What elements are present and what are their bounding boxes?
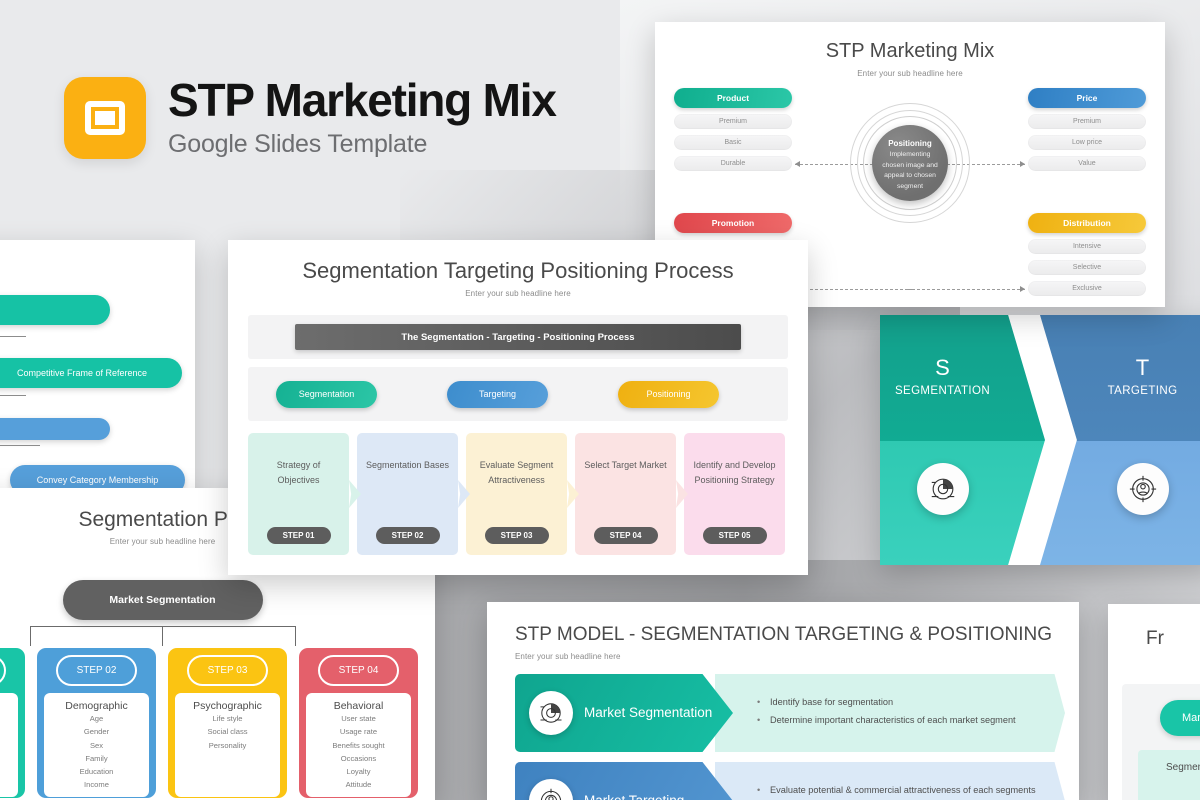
mix-core-text: Implementing chosen image and appeal to …	[880, 150, 940, 192]
model-row[interactable]: Identify base for segmentation Determine…	[515, 674, 1065, 752]
mix-quadrant-item: Premium	[674, 114, 792, 129]
process-step-text: Evaluate Segment Attractiveness	[475, 458, 559, 487]
segmentation-target-icon	[917, 463, 969, 515]
model-title: STP MODEL - SEGMENTATION TARGETING & POS…	[515, 624, 1079, 646]
segmentation-card-item: Family	[48, 753, 145, 765]
segmentation-card-item: Gender	[48, 726, 145, 738]
slide-stp-process[interactable]: Segmentation Targeting Positioning Proce…	[228, 240, 808, 575]
segmentation-card-item: Age	[48, 713, 145, 725]
segmentation-card-badge: STEP 04	[318, 655, 399, 686]
chevron-label: TARGETING	[1040, 385, 1200, 397]
mix-quadrant-label: Price	[1028, 88, 1146, 108]
segmentation-card-item: User state	[310, 713, 407, 725]
page-title: STP Marketing Mix	[168, 76, 556, 124]
mix-quadrant-item: Exclusive	[1028, 281, 1146, 296]
process-steps: Strategy of Objectives STEP 01 Segmentat…	[248, 433, 785, 555]
mix-subtitle: Enter your sub headline here	[655, 69, 1165, 78]
model-rows: Identify base for segmentation Determine…	[515, 674, 1065, 800]
mix-quadrant-item: Premium	[1028, 114, 1146, 129]
segmentation-card[interactable]: STEP 02 Demographic Age Gender Sex Famil…	[37, 648, 156, 798]
slide-framework-partial[interactable]: Fr Market Segmen	[1108, 604, 1200, 800]
process-pill-positioning[interactable]: Positioning	[618, 381, 719, 408]
screenshot-stage: Competitive Frame of Reference Convey Ca…	[0, 0, 1200, 800]
process-step-badge: STEP 05	[703, 527, 767, 544]
segmentation-card-heading: Demographic	[48, 700, 145, 712]
segmentation-card[interactable]: STEP 01 Geographic Region City size Dens…	[0, 648, 25, 798]
model-bullet-list: Identify base for segmentation Determine…	[757, 694, 1065, 730]
mix-connector-right-bottom	[907, 289, 1025, 290]
process-step-chevron	[458, 480, 470, 508]
mix-quadrant-promotion[interactable]: Promotion	[674, 213, 792, 233]
process-step-badge: STEP 04	[594, 527, 658, 544]
segmentation-card-badge: STEP 03	[187, 655, 268, 686]
far-pill-market: Market	[1160, 700, 1200, 736]
segmentation-card-item: Climate	[0, 753, 14, 765]
process-step-badge: STEP 02	[376, 527, 440, 544]
process-subtitle: Enter your sub headline here	[228, 289, 808, 298]
segmentation-card-badge: STEP 02	[56, 655, 137, 686]
process-step-text: Select Target Market	[584, 458, 668, 473]
chevron-letter: T	[1040, 355, 1200, 381]
mix-title: STP Marketing Mix	[655, 40, 1165, 63]
brand-header: STP Marketing Mix Google Slides Template	[64, 76, 556, 159]
segmentation-card-item: Usage rate	[310, 726, 407, 738]
process-step-card[interactable]: Identify and Develop Positioning Strateg…	[684, 433, 785, 555]
mix-connector-left-bottom	[795, 289, 913, 290]
mix-arrow-left-top	[795, 161, 800, 167]
slide-stp-chevrons[interactable]: T TARGETING S SEGMENTATION	[880, 315, 1200, 565]
process-step-badge: STEP 03	[485, 527, 549, 544]
process-step-badge: STEP 01	[267, 527, 331, 544]
process-banner: The Segmentation - Targeting - Positioni…	[295, 324, 741, 350]
process-pill-band: Segmentation Targeting Positioning	[248, 367, 788, 421]
segmentation-card-item: Region	[0, 713, 14, 725]
process-step-chevron	[567, 480, 579, 508]
segmentation-card[interactable]: STEP 03 Psychographic Life style Social …	[168, 648, 287, 798]
mix-center-positioning[interactable]: Positioning Implementing chosen image an…	[850, 103, 970, 223]
process-step-text: Segmentation Bases	[366, 458, 450, 473]
segmentation-card-item: Density	[0, 740, 14, 752]
segmentation-card-item: Loyalty	[310, 766, 407, 778]
mix-quadrant-item: Low price	[1028, 135, 1146, 150]
mix-quadrant-item: Value	[1028, 156, 1146, 171]
mix-quadrant-item: Intensive	[1028, 239, 1146, 254]
mix-quadrant-label: Distribution	[1028, 213, 1146, 233]
process-pill-segmentation[interactable]: Segmentation	[276, 381, 377, 408]
ref-pill-competitive-frame: Competitive Frame of Reference	[0, 358, 182, 388]
mix-quadrant-product[interactable]: Product Premium Basic Durable	[674, 88, 792, 171]
segmentation-target-icon	[529, 691, 573, 735]
model-row-header: Market Segmentation	[515, 674, 733, 752]
ref-pill-mid	[0, 418, 110, 440]
slide-stp-model[interactable]: STP MODEL - SEGMENTATION TARGETING & POS…	[487, 602, 1079, 800]
google-slides-icon	[64, 77, 146, 159]
segmentation-card-item: Education	[48, 766, 145, 778]
brand-text: STP Marketing Mix Google Slides Template	[168, 76, 556, 159]
process-title: Segmentation Targeting Positioning Proce…	[228, 258, 808, 284]
segmentation-card-body: Psychographic Life style Social class Pe…	[175, 693, 280, 797]
model-row-name: Market Segmentation	[584, 704, 712, 722]
segmentation-card-item: Sex	[48, 740, 145, 752]
ref-pill-top	[0, 295, 110, 325]
mix-quadrant-distribution[interactable]: Distribution Intensive Selective Exclusi…	[1028, 213, 1146, 296]
targeting-crosshair-icon	[1117, 463, 1169, 515]
segmentation-card-item: Attitude	[310, 779, 407, 791]
process-step-card[interactable]: Select Target Market STEP 04	[575, 433, 676, 555]
process-pill-targeting[interactable]: Targeting	[447, 381, 548, 408]
targeting-crosshair-icon	[529, 779, 573, 800]
process-step-chevron	[349, 480, 361, 508]
segmentation-card-item: City size	[0, 726, 14, 738]
process-step-chevron	[676, 480, 688, 508]
model-row-content: Identify base for segmentation Determine…	[715, 674, 1065, 752]
segmentation-connector-drop-1	[30, 626, 31, 646]
model-row[interactable]: Evaluate potential & commercial attracti…	[515, 762, 1065, 800]
segmentation-card-item: Income	[48, 779, 145, 791]
segmentation-card-body: Demographic Age Gender Sex Family Educat…	[44, 693, 149, 797]
page-subtitle: Google Slides Template	[168, 130, 556, 159]
segmentation-root-node: Market Segmentation	[63, 580, 263, 620]
process-step-card[interactable]: Strategy of Objectives STEP 01	[248, 433, 349, 555]
model-bullet: Identify base for segmentation	[757, 694, 1065, 712]
process-banner-band: The Segmentation - Targeting - Positioni…	[248, 315, 788, 359]
segmentation-card-body: Behavioral User state Usage rate Benefit…	[306, 693, 411, 797]
mix-quadrant-label: Promotion	[674, 213, 792, 233]
process-step-text: Strategy of Objectives	[257, 458, 341, 487]
segmentation-card-item: Life style	[179, 713, 276, 725]
segmentation-card-heading: Psychographic	[179, 700, 276, 712]
segmentation-card-item: Social class	[179, 726, 276, 738]
mix-arrow-right-bottom	[1020, 286, 1025, 292]
segmentation-connector-drop-2	[162, 626, 163, 646]
mix-arrow-right-top	[1020, 161, 1025, 167]
mix-quadrant-label: Product	[674, 88, 792, 108]
segmentation-card-badge: STEP 01	[0, 655, 6, 686]
chevron-label: SEGMENTATION	[880, 385, 1045, 397]
model-bullet: Determine important characteristics of e…	[757, 712, 1065, 730]
mix-quadrant-item: Selective	[1028, 260, 1146, 275]
mix-quadrant-item: Basic	[674, 135, 792, 150]
chevron-segmentation[interactable]: S SEGMENTATION	[880, 315, 1045, 565]
segmentation-connector-drop-3	[295, 626, 296, 646]
process-step-text: Identify and Develop Positioning Strateg…	[693, 458, 777, 487]
far-box-segment: Segmen	[1138, 750, 1200, 800]
segmentation-card[interactable]: STEP 04 Behavioral User state Usage rate…	[299, 648, 418, 798]
segmentation-card-item: Occasions	[310, 753, 407, 765]
process-step-card[interactable]: Segmentation Bases STEP 02	[357, 433, 458, 555]
mix-quadrant-item: Durable	[674, 156, 792, 171]
logo-glyph	[85, 101, 125, 135]
segmentation-card-body: Geographic Region City size Density Clim…	[0, 693, 18, 797]
model-row-header: Market Targeting	[515, 762, 733, 800]
far-title: Fr	[1146, 628, 1200, 650]
model-bullet-list: Evaluate potential & commercial attracti…	[757, 782, 1065, 800]
mix-core: Positioning Implementing chosen image an…	[872, 125, 948, 201]
segmentation-card-item: Benefits sought	[310, 740, 407, 752]
model-row-content: Evaluate potential & commercial attracti…	[715, 762, 1065, 800]
process-step-card[interactable]: Evaluate Segment Attractiveness STEP 03	[466, 433, 567, 555]
model-subtitle: Enter your sub headline here	[515, 652, 1079, 661]
segmentation-cards: STEP 01 Geographic Region City size Dens…	[0, 648, 418, 798]
model-row-name: Market Targeting	[584, 792, 684, 800]
model-bullet: Evaluate potential & commercial attracti…	[757, 782, 1065, 800]
mix-core-title: Positioning	[880, 139, 940, 148]
segmentation-card-heading: Behavioral	[310, 700, 407, 712]
chevron-letter: S	[880, 355, 1045, 381]
chevron-targeting[interactable]: T TARGETING	[1040, 315, 1200, 565]
segmentation-card-heading: Geographic	[0, 700, 14, 712]
segmentation-card-item: Personality	[179, 740, 276, 752]
mix-quadrant-price[interactable]: Price Premium Low price Value	[1028, 88, 1146, 171]
